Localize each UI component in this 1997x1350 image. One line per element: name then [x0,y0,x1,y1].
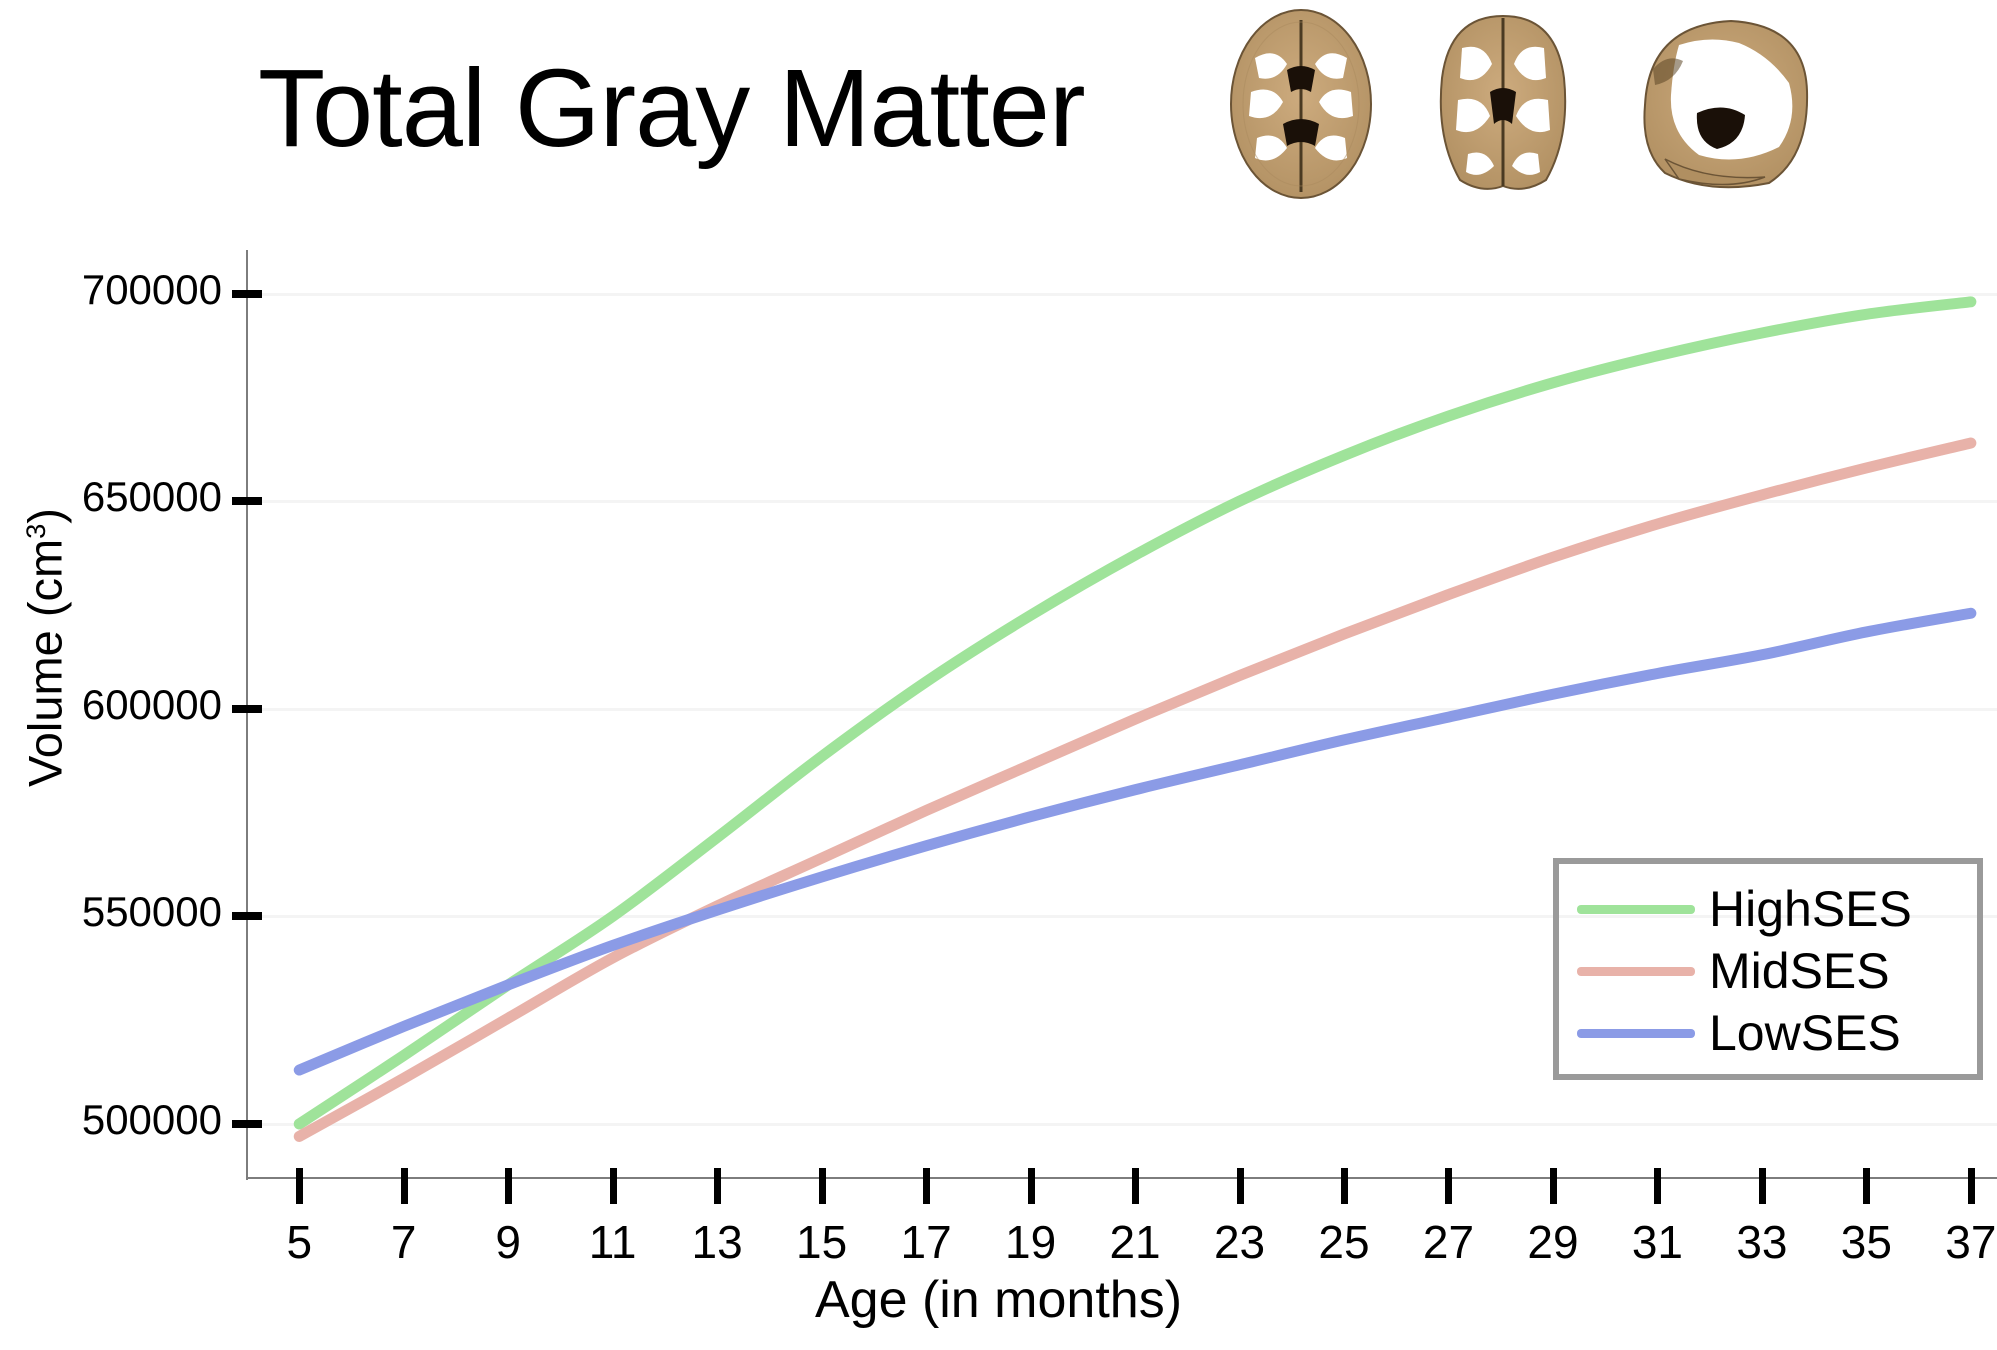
legend-swatch-highses [1577,905,1695,914]
y-axis-tick-label: 700000 [82,266,222,314]
x-axis-tick-label: 19 [986,1215,1076,1269]
x-axis-tick-label: 35 [1821,1215,1911,1269]
x-axis-tick-label: 7 [359,1215,449,1269]
x-axis-title: Age (in months) [0,1270,1997,1330]
legend-label: LowSES [1709,1008,1901,1058]
x-axis-tick-label: 31 [1612,1215,1702,1269]
page-title: Total Gray Matter [258,50,1085,169]
legend-swatch-lowses [1577,1029,1695,1038]
x-axis-tick-label: 9 [463,1215,553,1269]
x-axis-tick-label: 15 [777,1215,867,1269]
legend-item-lowses[interactable]: LowSES [1577,1006,1901,1060]
y-axis-tick-label: 550000 [82,888,222,936]
y-axis-tick-label: 500000 [82,1096,222,1144]
x-axis-tick-label: 17 [881,1215,971,1269]
x-axis-tick-label: 23 [1195,1215,1285,1269]
figure-canvas: Total Gray Matter [0,0,1997,1350]
x-axis-tick-label: 29 [1508,1215,1598,1269]
x-axis-tick-label: 11 [568,1215,658,1269]
x-axis-tick-label: 27 [1403,1215,1493,1269]
legend-item-highses[interactable]: HighSES [1577,882,1912,936]
legend-label: MidSES [1709,946,1890,996]
x-axis-tick-label: 13 [672,1215,762,1269]
legend-label: HighSES [1709,884,1912,934]
x-axis-tick-label: 21 [1090,1215,1180,1269]
y-axis-tick-label: 600000 [82,681,222,729]
x-axis-tick-label: 25 [1299,1215,1389,1269]
x-axis-tick-label: 37 [1926,1215,1997,1269]
sagittal-brain-slice [1619,9,1815,199]
legend-swatch-midses [1577,967,1695,976]
x-axis-tick-label: 5 [254,1215,344,1269]
y-axis-tick-label: 650000 [82,473,222,521]
coronal-brain-slice [1428,8,1578,200]
y-axis-title: Volume (cm3) [18,388,73,908]
brain-image-strip [1215,4,1815,204]
legend: HighSESMidSESLowSES [1553,858,1983,1080]
legend-item-midses[interactable]: MidSES [1577,944,1890,998]
axial-brain-slice [1215,6,1387,202]
x-axis-tick-label: 33 [1717,1215,1807,1269]
